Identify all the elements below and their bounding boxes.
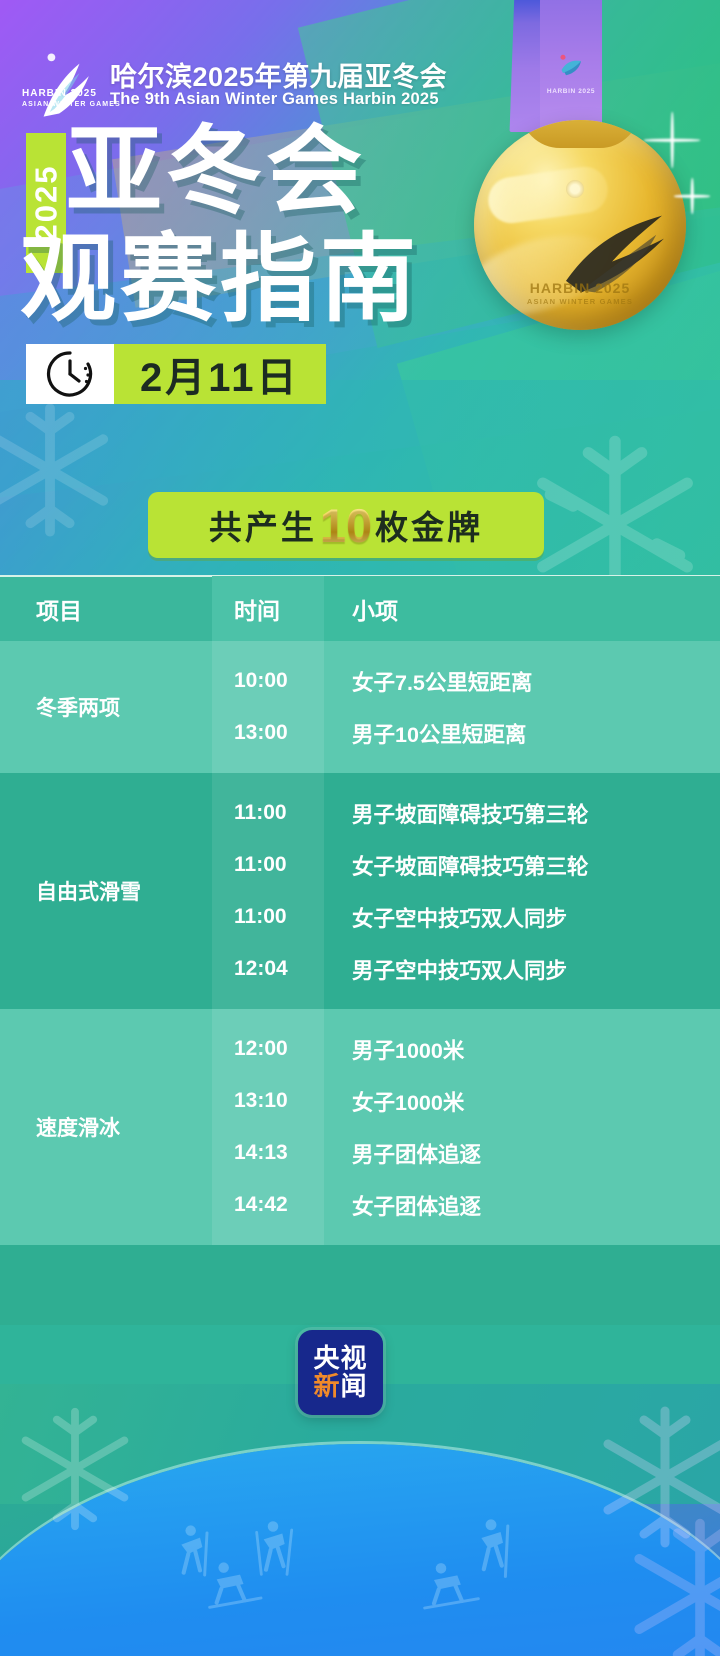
gold-count-number: 10 bbox=[320, 498, 372, 553]
sport-name-cell: 速度滑冰 bbox=[0, 1009, 212, 1245]
event-name: 男子10公里短距离 bbox=[324, 718, 720, 749]
skier-icon bbox=[420, 1552, 490, 1622]
emblem-name-cn: HARBIN 2025 bbox=[22, 88, 97, 99]
snowflake-icon bbox=[520, 430, 710, 575]
cctv-news-logo[interactable]: 央视 新闻 bbox=[298, 1330, 383, 1415]
cctv-logo-line2: 新闻 bbox=[313, 1373, 367, 1400]
event-name: 女子1000米 bbox=[324, 1086, 720, 1117]
date-label: 2月11日 bbox=[140, 345, 300, 403]
schedule-table: 项目 时间 小项 冬季两项10:00女子7.5公里短距离13:00男子10公里短… bbox=[0, 575, 720, 1325]
medal-sun-icon bbox=[566, 180, 584, 198]
footer bbox=[0, 1384, 720, 1656]
snowflake-icon bbox=[10, 1404, 140, 1534]
event-name: 男子1000米 bbox=[324, 1034, 720, 1065]
column-header-time: 时间 bbox=[212, 576, 324, 642]
games-title-cn: 哈尔滨2025年第九届亚冬会 bbox=[110, 55, 447, 94]
ribbon-text: HARBIN 2025 bbox=[540, 88, 602, 95]
table-header-row: 项目 时间 小项 bbox=[0, 575, 720, 641]
hero-title-line1: 亚冬会 bbox=[66, 124, 366, 220]
emblem-name-en: ASIAN WINTER GAMES bbox=[22, 101, 121, 108]
cctv-logo-line1: 央视 bbox=[313, 1345, 367, 1372]
sparkle-icon bbox=[674, 178, 710, 214]
date-bar: 2月11日 bbox=[26, 344, 326, 404]
table-section: 冬季两项10:00女子7.5公里短距离13:00男子10公里短距离 bbox=[0, 641, 720, 773]
table-tail-spacer bbox=[0, 1245, 720, 1325]
event-name: 女子7.5公里短距离 bbox=[324, 666, 720, 697]
event-name: 女子坡面障碍技巧第三轮 bbox=[324, 850, 720, 881]
hero-banner: HARBIN 2025 ASIAN WINTER GAMES 哈尔滨2025年第… bbox=[0, 0, 720, 575]
sport-name-cell: 冬季两项 bbox=[0, 641, 212, 773]
games-title-en: The 9th Asian Winter Games Harbin 2025 bbox=[110, 90, 439, 109]
ribbon-athlete-icon bbox=[556, 52, 588, 82]
column-header-event: 小项 bbox=[324, 576, 720, 642]
medal-text-primary: HARBIN 2025 bbox=[474, 280, 686, 296]
time-column-shade bbox=[212, 641, 324, 773]
event-name: 男子空中技巧双人同步 bbox=[324, 954, 720, 985]
event-name: 男子坡面障碍技巧第三轮 bbox=[324, 798, 720, 829]
event-name: 女子团体追逐 bbox=[324, 1190, 720, 1221]
cctv-logo-wen: 闻 bbox=[341, 1371, 368, 1401]
cctv-logo-xin: 新 bbox=[313, 1371, 340, 1401]
medal-ribbon-front: HARBIN 2025 bbox=[540, 0, 602, 140]
hero-title-line2: 观赛指南 bbox=[20, 232, 420, 328]
medal-top-bevel bbox=[520, 120, 640, 148]
time-column-shade bbox=[212, 1009, 324, 1245]
skier-icon bbox=[245, 1516, 315, 1586]
time-column-shade bbox=[212, 773, 324, 1009]
snowflake-icon bbox=[620, 1514, 720, 1656]
gold-medal-graphic: HARBIN 2025 HARBIN 2025 ASIAN WINTER GAM… bbox=[452, 0, 704, 342]
sparkle-icon bbox=[644, 112, 700, 168]
gold-count-suffix: 枚金牌 bbox=[375, 501, 483, 549]
sport-name-cell: 自由式滑雪 bbox=[0, 773, 212, 1009]
medal-text-secondary: ASIAN WINTER GAMES bbox=[474, 297, 686, 306]
clock-icon-box bbox=[26, 344, 114, 404]
gold-count-prefix: 共产生 bbox=[209, 501, 317, 549]
clock-icon bbox=[45, 349, 95, 399]
harbin-emblem-icon bbox=[28, 48, 106, 126]
gold-medal-count-banner: 共产生 10 枚金牌 bbox=[148, 492, 544, 558]
table-section: 自由式滑雪11:00男子坡面障碍技巧第三轮11:00女子坡面障碍技巧第三轮11:… bbox=[0, 773, 720, 1009]
event-name: 男子团体追逐 bbox=[324, 1138, 720, 1169]
column-header-sport: 项目 bbox=[0, 576, 212, 642]
snowflake-icon bbox=[0, 400, 120, 540]
event-name: 女子空中技巧双人同步 bbox=[324, 902, 720, 933]
date-panel: 2月11日 bbox=[114, 344, 326, 404]
table-section: 速度滑冰12:00男子1000米13:10女子1000米14:13男子团体追逐1… bbox=[0, 1009, 720, 1245]
